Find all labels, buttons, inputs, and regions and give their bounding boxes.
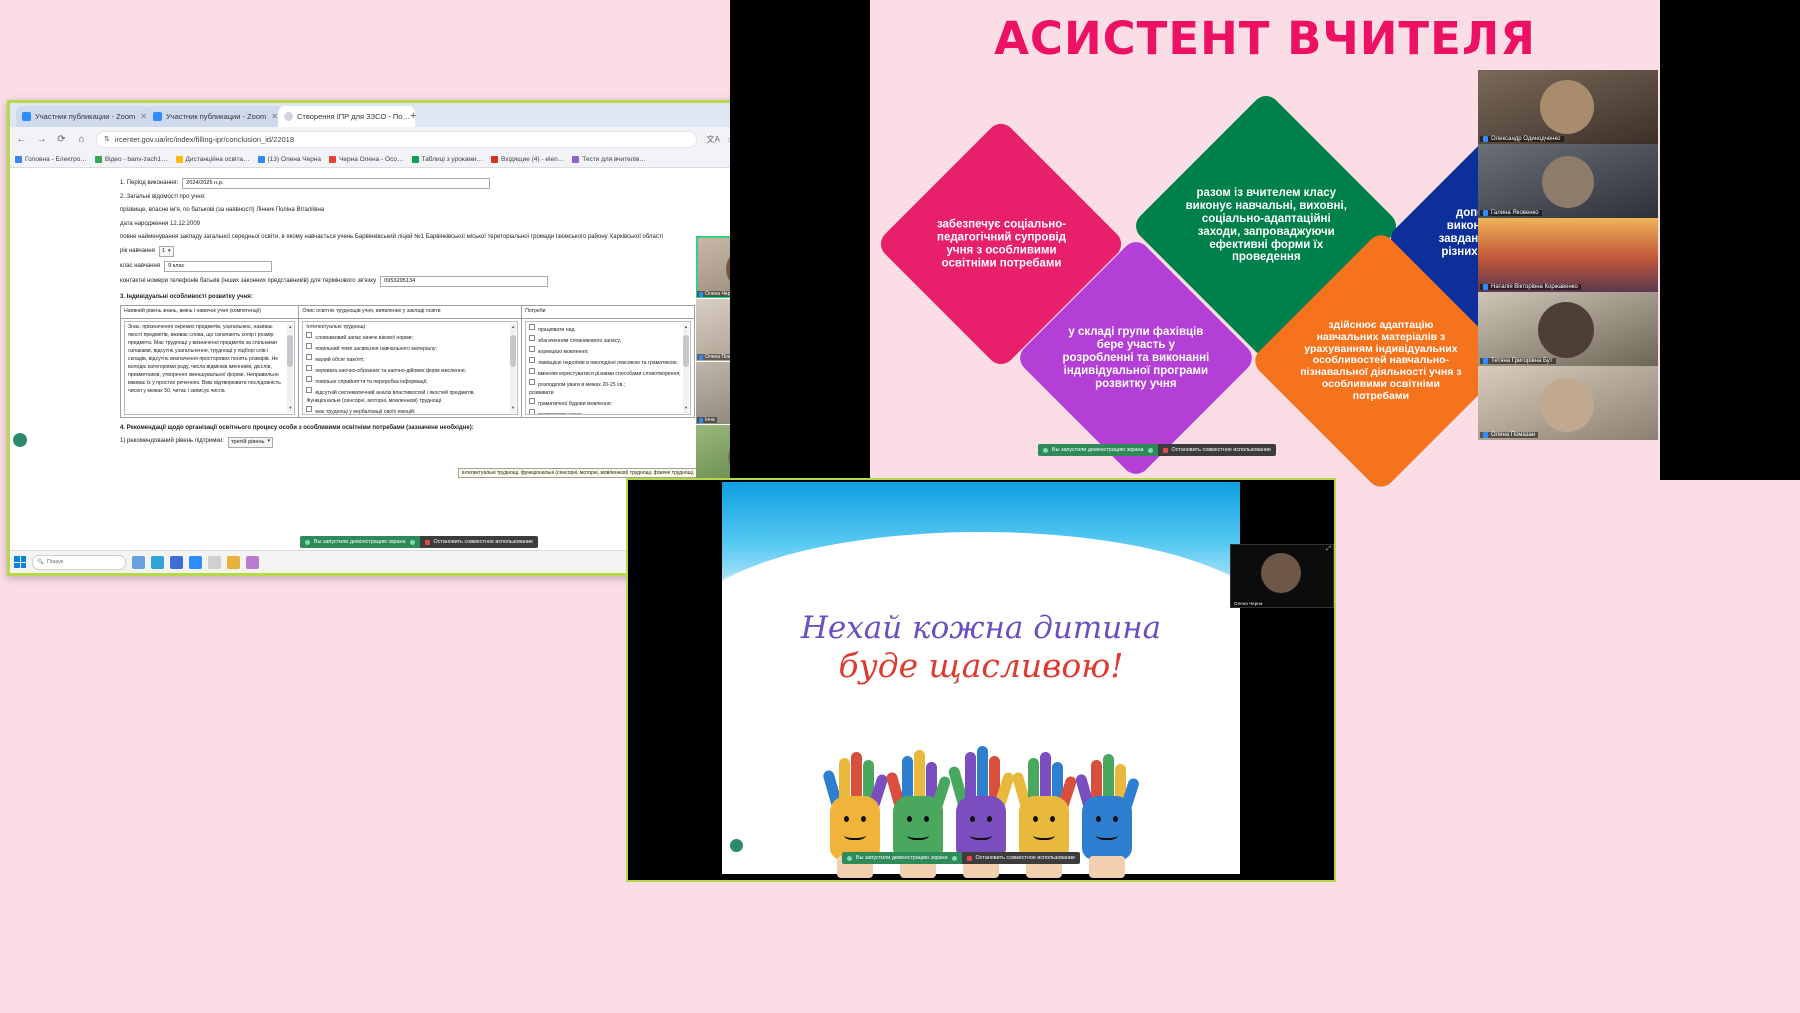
- mic-icon: [1483, 358, 1488, 364]
- back-icon[interactable]: ←: [16, 134, 27, 145]
- bookmark-label: Таблиці з уроками…: [422, 156, 484, 163]
- year-label: рік навчання: [120, 247, 155, 256]
- need-item: граматичної будови мовлення;: [529, 398, 682, 409]
- need-item: корекцією мовлення;: [529, 346, 682, 357]
- participant-name-badge: Наталія Вікторівна Коржавенко: [1480, 284, 1581, 290]
- zoom-share-bar[interactable]: Вы запустили демонстрацию экрана Останов…: [300, 536, 538, 548]
- scroll-thumb[interactable]: [683, 335, 689, 367]
- share-indicator-icon: [1148, 448, 1153, 453]
- period-label: 1. Період виконання:: [120, 179, 178, 188]
- participant-name-badge: Олена Черна: [1232, 601, 1264, 606]
- checkbox-icon[interactable]: [529, 368, 535, 374]
- checkbox-icon[interactable]: [306, 343, 312, 349]
- checkbox-icon[interactable]: [529, 324, 535, 330]
- wave-decor-icon: [722, 532, 1240, 592]
- stop-icon: [967, 856, 972, 861]
- chrome-icon[interactable]: [227, 556, 240, 569]
- floating-participant-video[interactable]: ⤢ Олена Черна: [1230, 544, 1334, 608]
- sharing-status-label: Вы запустили демонстрацию экрана: [1052, 447, 1144, 453]
- slide-line-1: Нехай кожна дитина: [722, 610, 1240, 646]
- tab-close-icon[interactable]: ✕: [140, 112, 147, 121]
- support-level-label: 1) рекомендований рівень підтримки:: [120, 437, 224, 446]
- chevron-down-icon: ▾: [168, 248, 171, 256]
- participant-tile[interactable]: Галина Яковенко: [1478, 144, 1658, 218]
- cell-needs: працювати над збагаченням словникового з…: [522, 319, 695, 418]
- bottom-presentation-stage: Нехай кожна дитина буде щасливою!: [626, 478, 1336, 882]
- birthdate-row: дата народження 12.12.2009: [120, 220, 695, 229]
- knowledge-textarea[interactable]: Знає: призначення окремих предметів, уза…: [124, 321, 295, 415]
- slide-header-banner: [722, 482, 1240, 592]
- scroll-down-icon[interactable]: ▼: [510, 405, 516, 412]
- bookmark-icon: [329, 156, 336, 163]
- tab-title: Участник публикации - Zoom: [166, 112, 266, 121]
- col-header-3: Потреби: [522, 306, 695, 319]
- bookmark-icon: [258, 156, 265, 163]
- address-bar[interactable]: ⇅ ircenter.gov.ua/irc/index/filling-ipr/…: [96, 131, 697, 148]
- need-item: збагаченням словникового запасу;: [529, 335, 682, 346]
- checkbox-icon[interactable]: [529, 379, 535, 385]
- hand-icon: [1014, 728, 1074, 860]
- table-row: Знає: призначення окремих предметів, уза…: [121, 319, 695, 418]
- tab-close-icon[interactable]: ✕: [271, 112, 278, 121]
- participant-tile[interactable]: Тетяна Григорівна Бут: [1478, 292, 1658, 366]
- stop-share-button[interactable]: Остановить совместное использование: [962, 852, 1080, 864]
- screen-record-indicator: [13, 433, 27, 447]
- word-icon[interactable]: [170, 556, 183, 569]
- year-select[interactable]: 1 ▾: [159, 246, 174, 257]
- checkbox-icon[interactable]: [529, 335, 535, 341]
- bookmark-item[interactable]: Таблиці з уроками…: [412, 156, 484, 163]
- mic-icon: [1483, 432, 1488, 438]
- home-icon[interactable]: ⌂: [76, 134, 87, 145]
- hand-icon: [951, 712, 1011, 860]
- hand-icon: [825, 728, 885, 860]
- need-item: вмінням користуватися різними способами …: [529, 368, 682, 379]
- cell-knowledge: Знає: призначення окремих предметів, уза…: [121, 319, 299, 418]
- hand-icon: [1077, 728, 1137, 860]
- scroll-down-icon[interactable]: ▼: [287, 405, 293, 412]
- bookmark-icon: [15, 156, 22, 163]
- stop-share-button[interactable]: Остановить совместное использование: [1158, 444, 1276, 456]
- form-row-phone: контактні номери телефонів батьків (інши…: [120, 276, 695, 287]
- birthdate-value: 12.12.2009: [170, 221, 200, 227]
- checkbox-icon[interactable]: [529, 409, 535, 415]
- bookmark-label: Дистанційна освіта…: [186, 156, 250, 163]
- participant-name-badge: Олександр Одинодченко: [1480, 136, 1564, 142]
- scroll-thumb[interactable]: [510, 335, 516, 367]
- diamond-text: у складі групи фахівців бере участь у ро…: [1056, 322, 1216, 394]
- checkbox-icon[interactable]: [306, 376, 312, 382]
- zoom-favicon-icon: [22, 112, 31, 121]
- stop-icon: [1163, 448, 1168, 453]
- mic-icon: [699, 418, 703, 423]
- difficulty-item: малий обсяг пам'яті;: [306, 354, 509, 365]
- stop-share-label: Остановить совместное использование: [1172, 447, 1271, 453]
- url-text: ircenter.gov.ua/irc/index/filling-ipr/co…: [115, 135, 294, 144]
- participant-name-badge: Тетяна Григорівна Бут: [1480, 358, 1556, 364]
- sharing-status-label: Вы запустили демонстрацию экрана: [856, 855, 948, 861]
- bookmark-item[interactable]: Черна Олена - Осо…: [329, 156, 403, 163]
- slide-line-2: буде щасливою!: [722, 646, 1240, 685]
- zoom-share-bar[interactable]: Вы запустили демонстрацию экрана Останов…: [842, 852, 1080, 864]
- bookmark-icon: [95, 156, 102, 163]
- stop-icon: [425, 540, 430, 545]
- support-level-row: 1) рекомендований рівень підтримки: трет…: [120, 437, 695, 448]
- translate-icon[interactable]: 文A: [706, 134, 719, 145]
- participant-name-badge: Олена Помазан: [1480, 432, 1538, 438]
- site-info-icon[interactable]: ⇅: [104, 135, 110, 143]
- happy-child-slide: Нехай кожна дитина буде щасливою!: [722, 482, 1240, 874]
- bookmark-icon: [491, 156, 498, 163]
- search-placeholder: Пошук: [47, 559, 64, 565]
- difficulty-item: має труднощі у вербалізації своїх емоцій…: [306, 406, 509, 416]
- diamond-text: здійснює адаптацію навчальних матеріалів…: [1294, 316, 1468, 406]
- birthdate-label: дата народження: [120, 221, 168, 227]
- checkbox-icon[interactable]: [306, 332, 312, 338]
- forward-icon[interactable]: →: [36, 134, 47, 145]
- need-item: розподіляти увагу;: [529, 409, 682, 416]
- zoom-favicon-icon: [153, 112, 162, 121]
- sharing-status-label: Вы запустили демонстрацию экрана: [314, 539, 406, 545]
- sharing-status: Вы запустили демонстрацию экрана: [300, 536, 420, 548]
- mic-icon: [699, 355, 703, 360]
- difficulties-textarea[interactable]: Інтелектуальні труднощі словниковий запа…: [302, 321, 518, 415]
- participant-tile[interactable]: Олександр Одинодченко: [1478, 70, 1658, 144]
- scroll-up-icon[interactable]: ▲: [510, 324, 516, 331]
- scrollbar[interactable]: ▲ ▼: [683, 323, 689, 413]
- hand-icon: [888, 728, 948, 860]
- participant-name-badge: Інна: [697, 417, 717, 423]
- col-header-1: Наявний рівень знань, вмінь і навичок уч…: [121, 306, 299, 319]
- bookmark-item[interactable]: (13) Олена Черна: [258, 156, 322, 163]
- participant-name-badge: Галина Яковенко: [1480, 210, 1542, 216]
- painted-hands-illustration: [740, 682, 1222, 860]
- share-indicator-icon: [410, 540, 415, 545]
- stop-share-button[interactable]: Остановить совместное использование: [420, 536, 538, 548]
- sharing-status: Вы запустили демонстрацию экрана: [842, 852, 962, 864]
- diamond-text: разом із вчителем класу виконує навчальн…: [1176, 183, 1356, 268]
- scroll-thumb[interactable]: [287, 335, 293, 367]
- class-input[interactable]: 9 клас: [164, 261, 272, 272]
- app-icon[interactable]: [246, 556, 259, 569]
- bookmark-item[interactable]: Головна - Електро…: [15, 156, 87, 163]
- difficulty-item: словниковий запас нижче вікової норми;: [306, 332, 509, 343]
- share-indicator-icon: [952, 856, 957, 861]
- scroll-up-icon[interactable]: ▲: [287, 324, 293, 331]
- development-features-table: Наявний рівень знань, вмінь і навичок уч…: [120, 305, 695, 418]
- bookmark-label: Черна Олена - Осо…: [339, 156, 403, 163]
- difficulty-item: повільний темп засвоєння навчального мат…: [306, 343, 509, 354]
- bookmark-item[interactable]: Тести для вчителів…: [572, 156, 645, 163]
- viber-icon[interactable]: [208, 556, 221, 569]
- checkbox-icon[interactable]: [529, 398, 535, 404]
- scroll-up-icon[interactable]: ▲: [683, 324, 689, 331]
- browser-tab-strip[interactable]: Участник публикации - Zoom ✕ Участник пу…: [10, 103, 823, 127]
- difficulty-item: повільне сприйняття та переробка інформа…: [306, 376, 509, 387]
- page-title: АСИСТЕНТ ВЧИТЕЛЯ: [870, 12, 1660, 65]
- browser-tab-2[interactable]: Участник публикации - Zoom ✕: [147, 106, 284, 127]
- class-label: клас навчання: [120, 262, 160, 271]
- stop-share-label: Остановить совместное использование: [434, 539, 533, 545]
- bookmark-label: Головна - Електро…: [25, 156, 87, 163]
- section4-heading: 4. Рекомендації щодо організації освітнь…: [120, 424, 695, 433]
- checkbox-icon[interactable]: [306, 406, 312, 412]
- student-name-label: прізвище, власне ім'я, по батькові (за н…: [120, 207, 255, 213]
- form-row-year: рік навчання 1 ▾: [120, 246, 695, 257]
- phone-label: контактні номери телефонів батьків (інши…: [120, 277, 376, 286]
- ipr-form: 1. Період виконання: 2024/2025 н.р. 2. З…: [120, 178, 695, 452]
- section3-heading: 3. Індивідуальні особливості розвитку уч…: [120, 293, 695, 302]
- col-header-2: Опис освітніх труднощів учня, виявлених …: [299, 306, 522, 319]
- need-item: працювати над: [529, 324, 682, 335]
- checkbox-icon[interactable]: [306, 354, 312, 360]
- bookmark-item[interactable]: Відео - banv-zach1…: [95, 156, 168, 163]
- participants-video-column[interactable]: Олександр Одинодченко Галина Яковенко На…: [1478, 70, 1658, 440]
- table-header-row: Наявний рівень знань, вмінь і навичок уч…: [121, 306, 695, 319]
- difficulty-item: відсутній систематичний аналіз властивос…: [306, 387, 509, 398]
- checkbox-icon[interactable]: [529, 346, 535, 352]
- mic-icon: [1483, 136, 1488, 142]
- support-level-select[interactable]: третій рівень ▾: [228, 437, 273, 448]
- chevron-down-icon: ▾: [267, 438, 270, 446]
- school-label: повне найменування закладу загальної сер…: [120, 234, 353, 240]
- support-level-value: третій рівень: [231, 438, 264, 447]
- student-name-value: Лінник Поліна Віталіївна: [256, 207, 324, 213]
- bookmarks-bar[interactable]: Головна - Електро… Відео - banv-zach1… Д…: [10, 151, 823, 168]
- checkbox-icon[interactable]: [306, 365, 312, 371]
- bookmark-label: (13) Олена Черна: [268, 156, 322, 163]
- tab-title: Створення ІПР для ЗЗСО - По…: [297, 112, 410, 121]
- bookmark-item[interactable]: Вхідящие (4) - elen…: [491, 156, 564, 163]
- search-icon: 🔍: [37, 559, 44, 565]
- tab-title: Участник публикации - Zoom: [35, 112, 135, 121]
- taskview-icon[interactable]: [132, 556, 145, 569]
- phone-input[interactable]: 0953295134: [380, 276, 548, 287]
- checkbox-icon[interactable]: [306, 387, 312, 393]
- need-item: лавіацією недоліків в оволодінні лексико…: [529, 357, 682, 368]
- section2-heading: 2. Загальні відомості про учня:: [120, 193, 695, 202]
- page-favicon-icon: [284, 112, 293, 121]
- year-value: 1: [162, 247, 165, 256]
- knowledge-text: Знає: призначення окремих предметів, уза…: [128, 324, 281, 393]
- bookmark-label: Тести для вчителів…: [582, 156, 645, 163]
- scroll-down-icon[interactable]: ▼: [683, 405, 689, 412]
- period-input[interactable]: 2024/2025 н.р.: [182, 178, 490, 189]
- bookmark-label: Відео - banv-zach1…: [105, 156, 168, 163]
- expand-icon[interactable]: ⤢: [1326, 546, 1331, 553]
- functional-heading: Функціональні (сенсорні, моторні, мовлен…: [306, 398, 441, 404]
- screen-share-icon: [847, 856, 852, 861]
- cell-difficulties: Інтелектуальні труднощі словниковий запа…: [299, 319, 522, 418]
- mic-icon: [1483, 284, 1488, 290]
- browser-omnibox-row[interactable]: ← → ⟳ ⌂ ⇅ ircenter.gov.ua/irc/index/fill…: [10, 127, 823, 151]
- school-value: Барвінківський ліцей №1 Барвінківської м…: [355, 234, 663, 240]
- bookmark-icon: [412, 156, 419, 163]
- bookmark-label: Вхідящие (4) - elen…: [501, 156, 564, 163]
- difficulty-item: перевага наочно-образних та наочно-дійов…: [306, 365, 509, 376]
- bookmark-icon: [176, 156, 183, 163]
- zoom-share-bar[interactable]: Вы запустили демонстрацию экрана Останов…: [1038, 444, 1276, 456]
- school-row: повне найменування закладу загальної сер…: [120, 233, 695, 242]
- diamond-text: забезпечує соціально-педагогічний супров…: [920, 214, 1083, 274]
- reload-icon[interactable]: ⟳: [56, 134, 67, 145]
- form-row-period: 1. Період виконання: 2024/2025 н.р.: [120, 178, 695, 189]
- windows-start-icon[interactable]: [14, 556, 26, 568]
- zoom-app-icon[interactable]: [189, 556, 202, 569]
- scrollbar[interactable]: ▲ ▼: [510, 323, 516, 413]
- participant-tile[interactable]: Олена Помазан: [1478, 366, 1658, 440]
- needs-textarea[interactable]: працювати над збагаченням словникового з…: [525, 321, 691, 415]
- form-row-class: клас навчання 9 клас: [120, 261, 695, 272]
- taskbar-search[interactable]: 🔍 Пошук: [32, 555, 126, 570]
- browser-tab-1[interactable]: Участник публикации - Zoom ✕: [16, 106, 153, 127]
- participant-tile[interactable]: Наталія Вікторівна Коржавенко: [1478, 218, 1658, 292]
- mic-icon: [699, 292, 703, 297]
- screen-record-indicator: [730, 839, 743, 852]
- checkbox-icon[interactable]: [529, 357, 535, 363]
- student-name-row: прізвище, власне ім'я, по батькові (за н…: [120, 206, 695, 215]
- browser-tab-3[interactable]: Створення ІПР для ЗЗСО - По… ✕: [278, 106, 415, 127]
- need-item: розподілом уваги в межах 20-25 хв.;: [529, 379, 682, 390]
- need-item: розвивати: [529, 390, 682, 398]
- screen-share-icon: [1043, 448, 1048, 453]
- mic-icon: [1483, 210, 1488, 216]
- stop-share-label: Остановить совместное использование: [976, 855, 1075, 861]
- screen-share-icon: [305, 540, 310, 545]
- bookmark-item[interactable]: Дистанційна освіта…: [176, 156, 250, 163]
- bookmark-icon: [572, 156, 579, 163]
- new-tab-button[interactable]: +: [410, 110, 416, 122]
- sharing-status: Вы запустили демонстрацию экрана: [1038, 444, 1158, 456]
- difficulties-heading: Інтелектуальні труднощі: [306, 324, 364, 330]
- scrollbar[interactable]: ▲ ▼: [287, 323, 293, 413]
- explorer-icon[interactable]: [151, 556, 164, 569]
